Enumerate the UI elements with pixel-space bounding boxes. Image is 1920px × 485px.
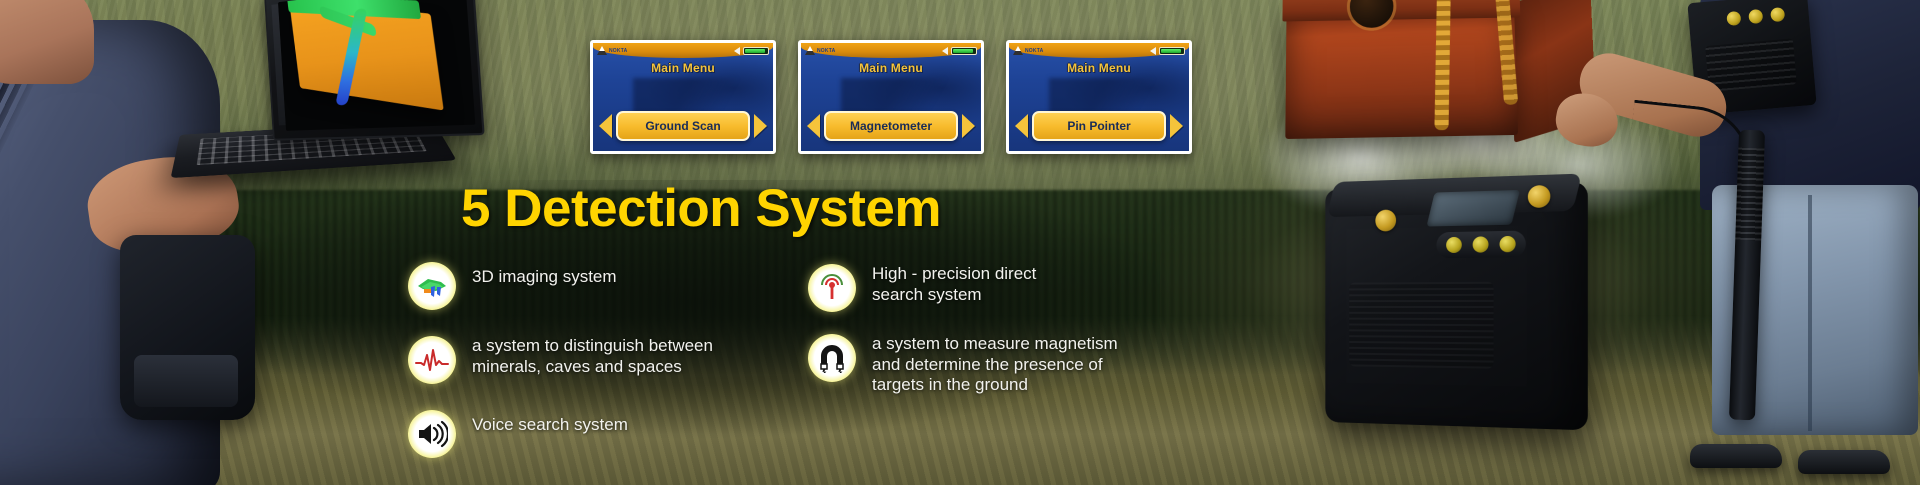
left-person-neck <box>0 0 94 84</box>
feature-label-line2: and determine the presence of <box>872 355 1103 374</box>
feature-label: Voice search system <box>472 410 628 436</box>
speaker-icon <box>408 410 456 458</box>
right-person-shoe <box>1798 450 1890 474</box>
screen-title: Main Menu <box>801 61 981 75</box>
screen-mode-selector: Pin Pointer <box>1015 111 1183 141</box>
left-person-bag <box>120 235 255 420</box>
status-indicators <box>942 47 977 55</box>
feature-item-high-precision: High - precision direct search system <box>808 264 1228 312</box>
chest-chain <box>1434 0 1450 130</box>
brand-logo-icon <box>597 46 607 55</box>
screen-mode-selector: Magnetometer <box>807 111 975 141</box>
laptop-screen-content <box>278 0 475 131</box>
detector-port <box>1500 236 1516 252</box>
feature-label-line2: minerals, caves and spaces <box>472 357 682 376</box>
feature-item-magnetism: a system to measure magnetism and determ… <box>808 334 1228 396</box>
laptop-device <box>178 0 478 184</box>
right-person-shoe <box>1690 444 1782 468</box>
battery-icon <box>951 47 977 55</box>
feature-column-right: High - precision direct search system a … <box>808 262 1228 458</box>
brand-logo-label: NOKTA <box>817 48 835 54</box>
feature-label-line1: a system to distinguish between <box>472 336 713 355</box>
feature-label-line1: High - precision direct <box>872 264 1036 283</box>
brand-logo-icon <box>805 46 815 55</box>
brand-logo-label: NOKTA <box>1025 48 1043 54</box>
waveform-icon <box>408 336 456 384</box>
brand-logo: NOKTA <box>805 46 835 55</box>
3d-terrain-icon <box>408 262 456 310</box>
feature-list: 3D imaging system a system to distinguis… <box>408 262 1288 458</box>
arrow-right-icon[interactable] <box>754 114 767 138</box>
feature-label-line3: targets in the ground <box>872 375 1028 394</box>
speaker-icon <box>1150 47 1156 55</box>
scan-ridge <box>319 5 376 37</box>
controller-knob-row <box>1726 7 1785 26</box>
arrow-right-icon[interactable] <box>962 114 975 138</box>
screen-title: Main Menu <box>593 61 773 75</box>
detector-port-row <box>1436 231 1525 259</box>
feature-label-line1: a system to measure magnetism <box>872 334 1118 353</box>
feature-label: 3D imaging system <box>472 262 617 288</box>
device-screen-gallery: NOKTA Main Menu Ground Scan NOKTA <box>590 40 1192 154</box>
treasure-chest <box>1285 0 1596 165</box>
controller-knob <box>1748 9 1763 24</box>
feature-item-mineral-distinguish: a system to distinguish between minerals… <box>408 336 788 384</box>
detector-display-screen <box>1427 190 1520 227</box>
mode-button[interactable]: Ground Scan <box>616 111 750 141</box>
feature-column-left: 3D imaging system a system to distinguis… <box>408 262 788 458</box>
speaker-icon <box>734 47 740 55</box>
signal-antenna-icon <box>808 264 856 312</box>
battery-icon <box>743 47 769 55</box>
controller-knob <box>1770 7 1785 22</box>
feature-item-voice-search: Voice search system <box>408 410 788 458</box>
detector-control-unit <box>1325 182 1587 431</box>
arrow-left-icon[interactable] <box>807 114 820 138</box>
chest-front-panel <box>1285 4 1518 139</box>
feature-item-3d-imaging: 3D imaging system <box>408 262 788 310</box>
magnet-icon <box>808 334 856 382</box>
controller-knob <box>1726 11 1741 26</box>
detector-grill <box>1349 282 1493 369</box>
feature-label: High - precision direct search system <box>872 264 1036 305</box>
device-screen-ground-scan[interactable]: NOKTA Main Menu Ground Scan <box>590 40 776 154</box>
laptop-screen <box>264 0 485 141</box>
speaker-icon <box>942 47 948 55</box>
promo-banner: NOKTA Main Menu Ground Scan NOKTA <box>0 0 1920 485</box>
feature-label-line2: search system <box>872 285 982 304</box>
screen-mode-selector: Ground Scan <box>599 111 767 141</box>
arrow-right-icon[interactable] <box>1170 114 1183 138</box>
detector-port <box>1446 237 1462 253</box>
detector-port <box>1473 236 1489 252</box>
controller-grill <box>1705 38 1797 91</box>
screen-title: Main Menu <box>1009 61 1189 75</box>
mode-button[interactable]: Magnetometer <box>824 111 958 141</box>
battery-icon <box>1159 47 1185 55</box>
mode-button[interactable]: Pin Pointer <box>1032 111 1166 141</box>
right-person-photo <box>1570 0 1920 485</box>
status-indicators <box>1150 47 1185 55</box>
status-indicators <box>734 47 769 55</box>
ground-scan-3d-plot <box>289 0 444 111</box>
arrow-left-icon[interactable] <box>1015 114 1028 138</box>
arrow-left-icon[interactable] <box>599 114 612 138</box>
feature-label: a system to distinguish between minerals… <box>472 336 713 377</box>
brand-logo-label: NOKTA <box>609 48 627 54</box>
device-screen-magnetometer[interactable]: NOKTA Main Menu Magnetometer <box>798 40 984 154</box>
feature-label: a system to measure magnetism and determ… <box>872 334 1118 396</box>
brand-logo-icon <box>1013 46 1023 55</box>
page-title: 5 Detection System <box>461 178 941 239</box>
brand-logo: NOKTA <box>597 46 627 55</box>
device-screen-pin-pointer[interactable]: NOKTA Main Menu Pin Pointer <box>1006 40 1192 154</box>
brand-logo: NOKTA <box>1013 46 1043 55</box>
